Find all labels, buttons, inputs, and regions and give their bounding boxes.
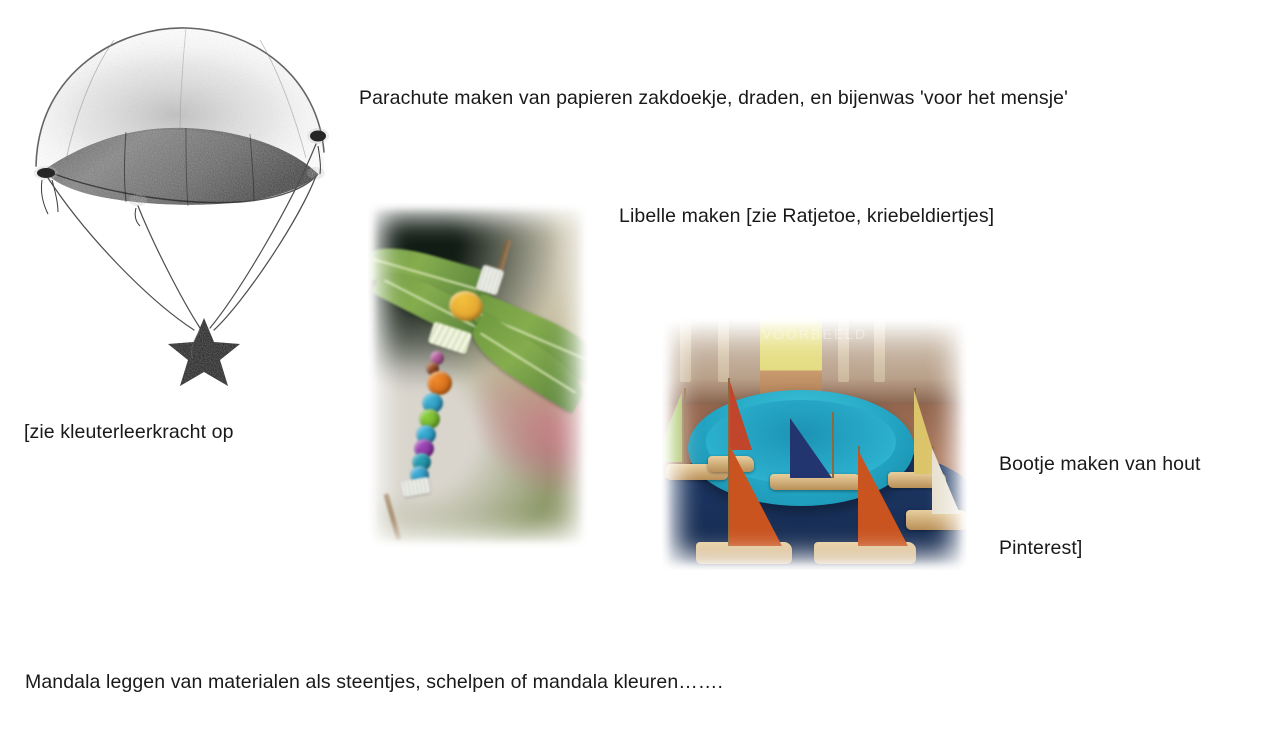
- boat-sail-orange: [730, 446, 782, 546]
- caption-mandala: Mandala leggen van materialen als steent…: [25, 668, 723, 696]
- boats-scene: VOORBEELD: [662, 318, 967, 570]
- caption-parachute: Parachute maken van papieren zakdoekje, …: [359, 84, 1068, 112]
- boat-right-white: [906, 438, 967, 530]
- caption-kleuterleerkracht: [zie kleuterleerkracht op: [24, 418, 234, 446]
- bead-orange: [427, 371, 452, 395]
- caption-libelle: Libelle maken [zie Ratjetoe, kriebeldier…: [619, 202, 994, 230]
- wooden-boats-photo: VOORBEELD: [662, 318, 967, 570]
- dragonfly-craft-photo: [368, 203, 588, 548]
- caption-bootje-line-1: Bootje maken van hout: [999, 450, 1201, 478]
- wall-post-4: [874, 320, 885, 382]
- caption-bootje: Bootje maken van hout Pinterest]: [999, 394, 1201, 618]
- caption-bootje-line-2: Pinterest]: [999, 534, 1201, 562]
- photo-watermark: VOORBEELD: [762, 326, 867, 342]
- parachute-sketch: [18, 18, 348, 393]
- slide-canvas: Parachute maken van papieren zakdoekje, …: [0, 0, 1282, 734]
- parachute-payload-star: [168, 318, 240, 386]
- boat-sail-white: [932, 448, 960, 514]
- parachute-svg: [18, 18, 348, 393]
- boat-sail-green: [662, 392, 682, 462]
- boat-front-left-orange: [696, 440, 792, 564]
- boat-mast: [684, 388, 686, 462]
- dragonfly-scene: [368, 203, 588, 548]
- wall-post-1: [680, 320, 691, 382]
